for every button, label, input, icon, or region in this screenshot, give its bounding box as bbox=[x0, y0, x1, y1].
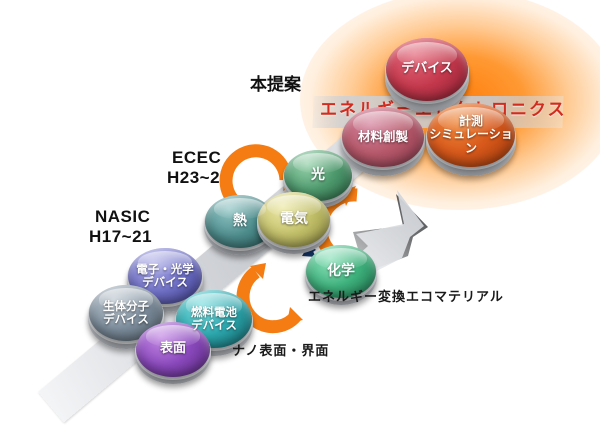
nasic-period: H17~21 bbox=[89, 227, 152, 247]
node-electric[interactable]: 電気 bbox=[258, 192, 330, 247]
nasic-name: NASIC bbox=[95, 207, 150, 227]
node-measurement-simulation[interactable]: 計測 シミュレーション bbox=[427, 103, 515, 167]
node-measurement-simulation-label: 計測 シミュレーション bbox=[427, 115, 515, 155]
caption-eco-material: エネルギー変換エコマテリアル bbox=[308, 286, 504, 305]
node-chemistry-label: 化学 bbox=[325, 264, 357, 280]
node-surface-label: 表面 bbox=[158, 342, 188, 357]
node-material-label: 材料創製 bbox=[356, 130, 410, 144]
node-light-label: 光 bbox=[309, 168, 327, 184]
node-electric-label: 電気 bbox=[278, 212, 310, 228]
diagram-canvas: 本提案 エネルギーエレクトロニクス デバイス 材料創製 計測 シミュレーション … bbox=[0, 0, 600, 447]
node-fuel-cell-device-label: 燃料電池 デバイス bbox=[189, 306, 239, 332]
node-electronic-optical-device-label: 電子・光学 デバイス bbox=[134, 263, 196, 289]
node-biomolecular-device-label: 生体分子 デバイス bbox=[101, 300, 151, 326]
ecec-name: ECEC bbox=[172, 148, 221, 168]
node-material[interactable]: 材料創製 bbox=[342, 107, 424, 167]
caption-nano-surface: ナノ表面・界面 bbox=[232, 340, 329, 359]
proposal-title: 本提案 bbox=[250, 70, 301, 95]
ecec-period: H23~27 bbox=[167, 168, 230, 188]
node-device-label: デバイス bbox=[399, 62, 455, 77]
node-device[interactable]: デバイス bbox=[386, 38, 468, 101]
node-heat-label: 熱 bbox=[231, 214, 249, 230]
